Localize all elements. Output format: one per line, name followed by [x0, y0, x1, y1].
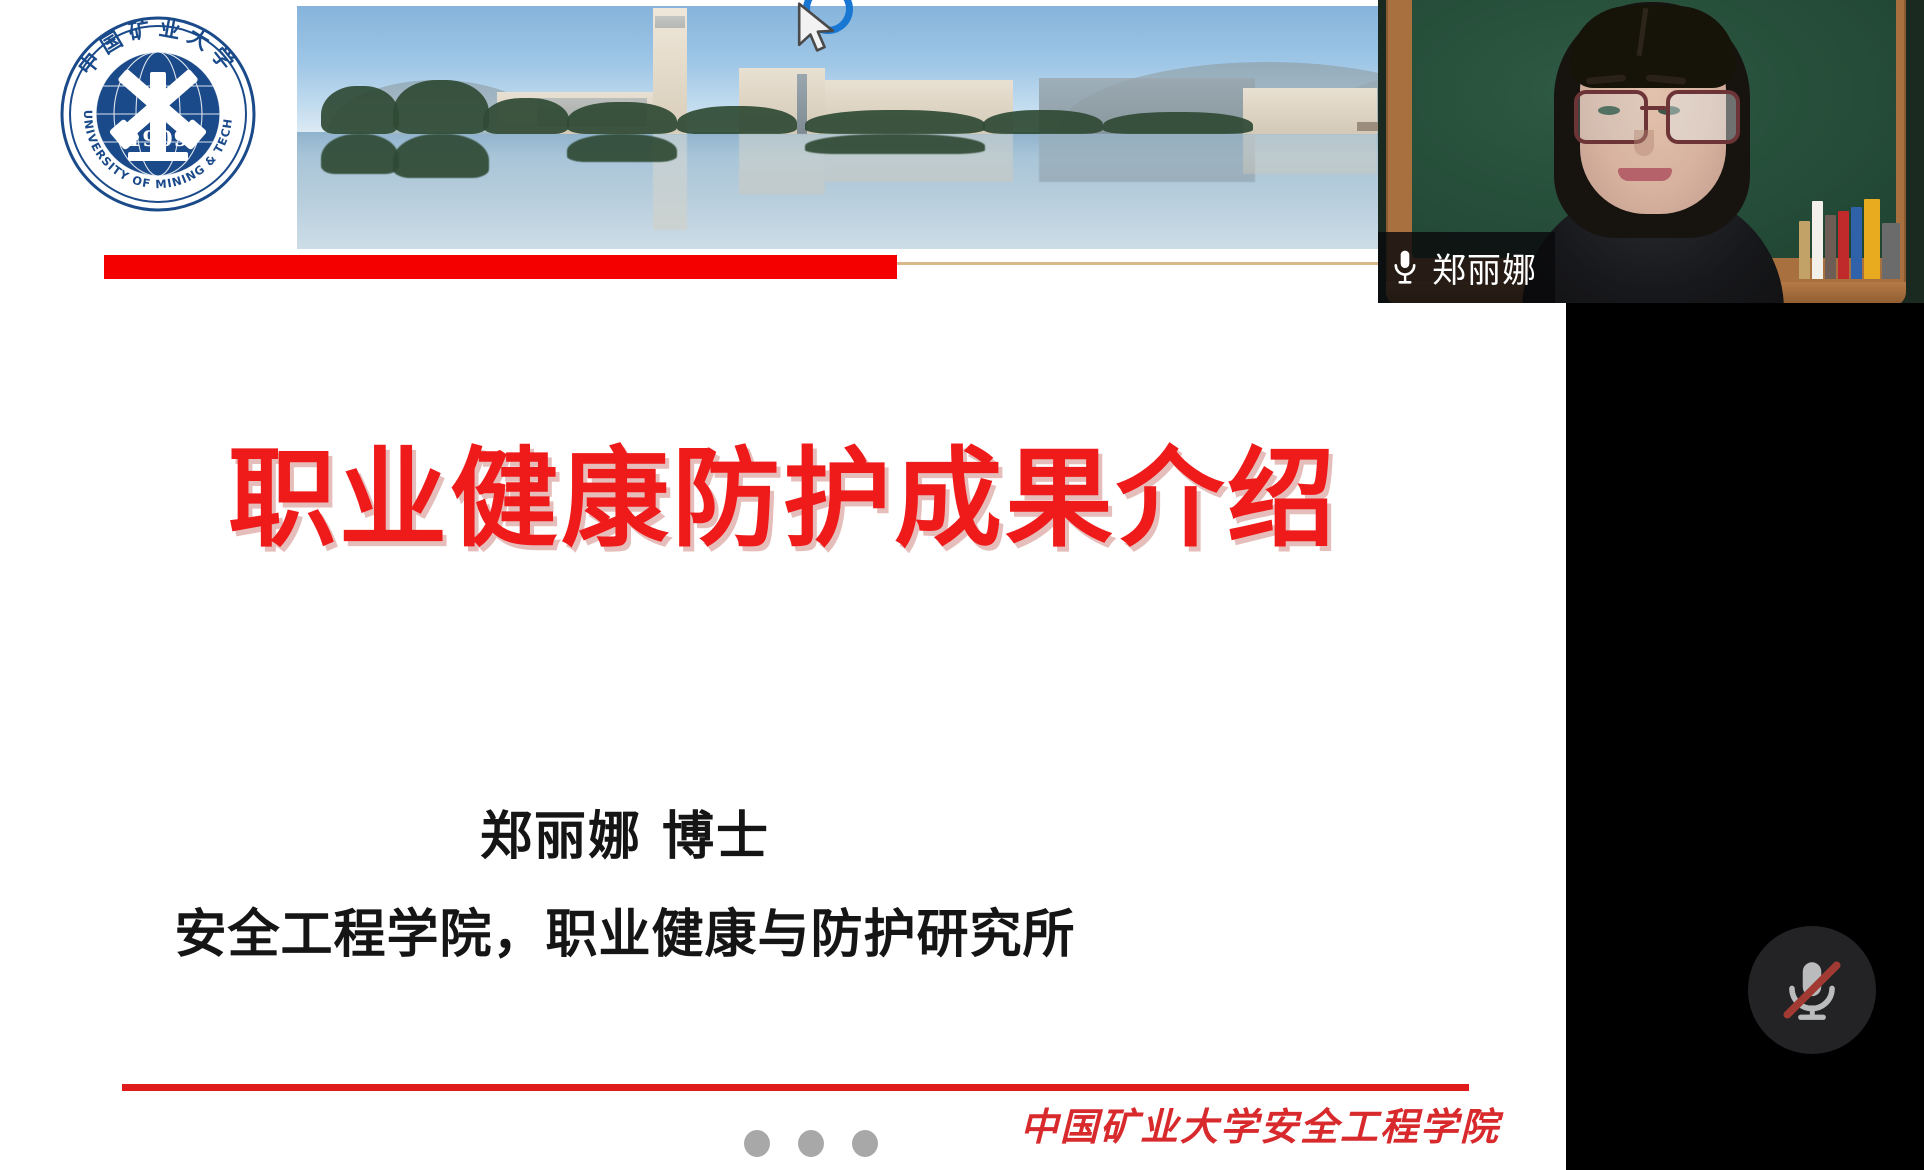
presentation-slide: 1909 中国矿业大学 CHINA UNIVERSITY OF MINING &… — [0, 0, 1566, 1170]
slide-header-band: 1909 中国矿业大学 CHINA UNIVERSITY OF MINING &… — [0, 0, 1566, 258]
university-seal-logo: 1909 中国矿业大学 CHINA UNIVERSITY OF MINING &… — [58, 14, 258, 214]
participant-name-badge: 郑丽娜 — [1378, 232, 1555, 303]
mute-microphone-button[interactable] — [1748, 926, 1876, 1054]
participant-video-tile[interactable]: 郑丽娜 — [1378, 0, 1924, 303]
microphone-muted-icon — [1775, 953, 1849, 1027]
presenter-affiliation: 安全工程学院，职业健康与防护研究所 — [0, 892, 1250, 967]
footer-dot — [852, 1130, 878, 1157]
campus-panorama-photo — [297, 6, 1566, 249]
footer-organization: 中国矿业大学安全工程学院 — [1020, 1096, 1470, 1151]
footer-red-rule — [122, 1084, 1469, 1091]
page-title: 职业健康防护成果介绍 — [0, 412, 1566, 568]
svg-text:1909: 1909 — [127, 126, 189, 151]
footer-dot — [798, 1130, 824, 1157]
eyeglasses — [1570, 90, 1738, 138]
footer-dot — [744, 1130, 770, 1157]
header-red-bar — [104, 255, 897, 279]
participant-webcam-image — [1518, 2, 1786, 303]
presenter-name: 郑丽娜 博士 — [0, 794, 1250, 869]
participant-name-label: 郑丽娜 — [1432, 243, 1537, 292]
footer-dots — [744, 1130, 878, 1157]
microphone-icon — [1392, 249, 1418, 287]
screen-share-stage: 1909 中国矿业大学 CHINA UNIVERSITY OF MINING &… — [0, 0, 1924, 1170]
books-on-ledge — [1799, 193, 1900, 279]
